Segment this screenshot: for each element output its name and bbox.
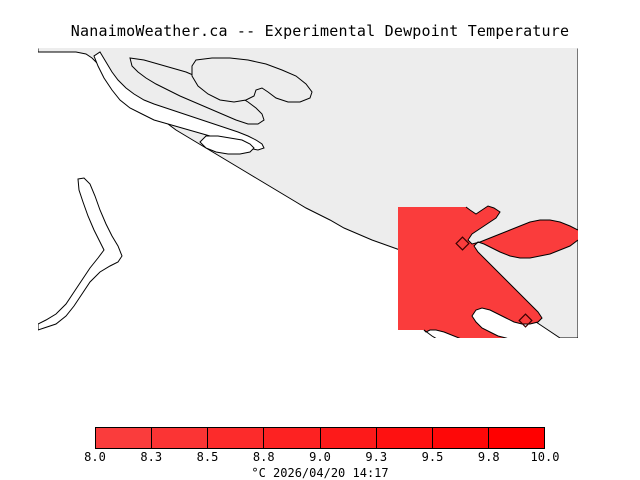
colorbar-tick-10-0: 10.0 — [531, 450, 560, 464]
colorbar-caption: °C 2026/04/20 14:17 — [0, 466, 640, 480]
weather-map-page: NanaimoWeather.ca -- Experimental Dewpoi… — [0, 0, 640, 480]
colorbar-segment-1 — [152, 428, 208, 448]
colorbar-segment-6 — [433, 428, 489, 448]
colorbar-tick-8-8: 8.8 — [253, 450, 275, 464]
colorbar-segment-4 — [321, 428, 377, 448]
page-title: NanaimoWeather.ca -- Experimental Dewpoi… — [0, 22, 640, 40]
map-canvas[interactable] — [0, 44, 640, 414]
colorbar-tick-8-3: 8.3 — [140, 450, 162, 464]
colorbar-segment-2 — [208, 428, 264, 448]
colorbar-segment-0 — [96, 428, 152, 448]
colorbar-tick-9-5: 9.5 — [422, 450, 444, 464]
colorbar-tick-8-0: 8.0 — [84, 450, 106, 464]
colorbar-tick-labels: 8.08.38.58.89.09.39.59.810.0 — [0, 450, 640, 466]
colorbar-tick-9-0: 9.0 — [309, 450, 331, 464]
map-panel[interactable] — [0, 44, 640, 414]
colorbar-gradient[interactable] — [95, 427, 545, 449]
colorbar-segment-3 — [264, 428, 320, 448]
colorbar-tick-9-8: 9.8 — [478, 450, 500, 464]
colorbar-legend: 8.08.38.58.89.09.39.59.810.0 °C 2026/04/… — [0, 420, 640, 480]
colorbar-segment-5 — [377, 428, 433, 448]
colorbar-segment-7 — [489, 428, 544, 448]
colorbar-tick-8-5: 8.5 — [197, 450, 219, 464]
colorbar-tick-9-3: 9.3 — [365, 450, 387, 464]
